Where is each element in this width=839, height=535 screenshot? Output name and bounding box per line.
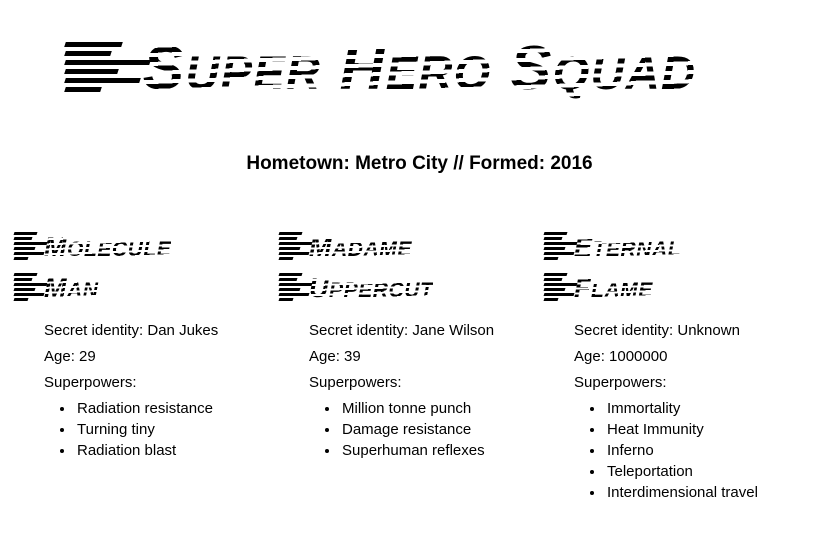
hero-name-line-text: UPPERCUT xyxy=(309,269,433,310)
hero-name-speed-text: FLAME xyxy=(574,269,653,310)
hero-name-line-text: MADAME xyxy=(309,228,412,269)
hero-superpowers-label: Superpowers: xyxy=(309,370,556,396)
hero-name-speed-text: MAN xyxy=(44,269,99,310)
list-item: Superhuman reflexes xyxy=(340,440,556,461)
speed-lines-icon xyxy=(65,42,151,96)
hero-name: MADAME UPPERCUT xyxy=(309,228,529,310)
speed-lines-icon xyxy=(14,232,48,263)
hero-details: Secret identity: Dan Jukes Age: 29 Super… xyxy=(44,318,291,396)
hero-name-line: MOLECULE xyxy=(44,228,264,269)
list-item: Interdimensional travel xyxy=(605,482,821,503)
list-item: Radiation resistance xyxy=(75,398,291,419)
hero-name-line: MAN xyxy=(44,269,264,310)
hero-age: Age: 1000000 xyxy=(574,344,821,370)
hero-powers-list: Million tonne punch Damage resistance Su… xyxy=(309,398,556,461)
hero-name-line: FLAME xyxy=(574,269,794,310)
hero-name: ETERNAL FLAME xyxy=(574,228,794,310)
speed-lines-icon xyxy=(14,273,48,304)
hero-name-speed-text: UPPERCUT xyxy=(309,269,433,310)
list-item: Damage resistance xyxy=(340,419,556,440)
hero-name-speed-text: MOLECULE xyxy=(44,228,171,269)
hero-name-line: ETERNAL xyxy=(574,228,794,269)
hero-name-line-text: ETERNAL xyxy=(574,228,681,269)
title-speed-text: SUPER HERO SQUAD xyxy=(143,36,696,106)
hero-powers-list: Radiation resistance Turning tiny Radiat… xyxy=(44,398,291,461)
hero-name-line-text: MAN xyxy=(44,269,99,310)
hero-card: MADAME UPPERCUT Secret identity: Jane Wi… xyxy=(309,228,574,461)
hero-details: Secret identity: Unknown Age: 1000000 Su… xyxy=(574,318,821,396)
hero-name-speed-text: ETERNAL xyxy=(574,228,681,269)
hero-columns: MOLECULE MAN Secret identity: Dan Jukes … xyxy=(44,228,839,503)
hero-name-line-text: FLAME xyxy=(574,269,653,310)
hero-name-line: UPPERCUT xyxy=(309,269,529,310)
list-item: Immortality xyxy=(605,398,821,419)
list-item: Turning tiny xyxy=(75,419,291,440)
page-title-text: SUPER HERO SQUAD xyxy=(143,36,696,106)
hero-details: Secret identity: Jane Wilson Age: 39 Sup… xyxy=(309,318,556,396)
hero-name-speed-text: MADAME xyxy=(309,228,412,269)
page-root: SUPER HERO SQUAD Hometown: Metro City //… xyxy=(0,0,839,535)
list-item: Radiation blast xyxy=(75,440,291,461)
hero-name-line-text: MOLECULE xyxy=(44,228,171,269)
hero-powers-list: Immortality Heat Immunity Inferno Telepo… xyxy=(574,398,821,503)
list-item: Heat Immunity xyxy=(605,419,821,440)
hero-superpowers-label: Superpowers: xyxy=(44,370,291,396)
hero-card: ETERNAL FLAME Secret identity: Unknown A… xyxy=(574,228,839,503)
hero-name: MOLECULE MAN xyxy=(44,228,264,310)
page-title: SUPER HERO SQUAD xyxy=(0,36,839,106)
hero-age: Age: 39 xyxy=(309,344,556,370)
hero-age: Age: 29 xyxy=(44,344,291,370)
list-item: Inferno xyxy=(605,440,821,461)
hero-superpowers-label: Superpowers: xyxy=(574,370,821,396)
hero-secret-identity: Secret identity: Jane Wilson xyxy=(309,318,556,344)
page-subtitle: Hometown: Metro City // Formed: 2016 xyxy=(0,152,839,176)
hero-name-line: MADAME xyxy=(309,228,529,269)
hero-secret-identity: Secret identity: Dan Jukes xyxy=(44,318,291,344)
list-item: Million tonne punch xyxy=(340,398,556,419)
list-item: Teleportation xyxy=(605,461,821,482)
hero-secret-identity: Secret identity: Unknown xyxy=(574,318,821,344)
hero-card: MOLECULE MAN Secret identity: Dan Jukes … xyxy=(44,228,309,461)
